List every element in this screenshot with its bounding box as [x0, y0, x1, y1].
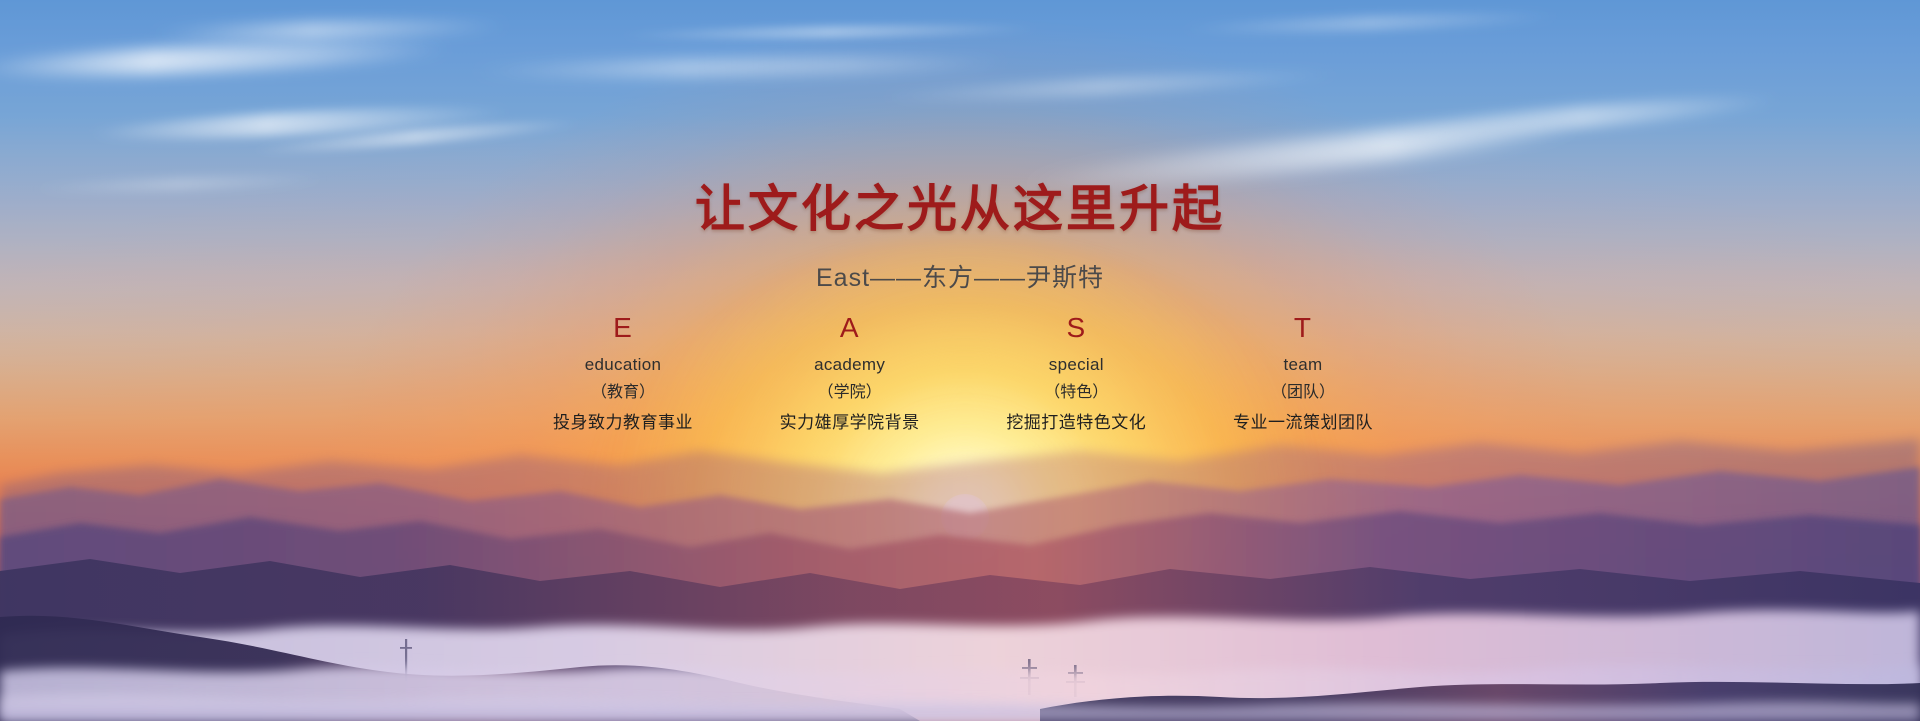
pillar-letter: S	[963, 313, 1189, 343]
pillar-special: S special （特色） 挖掘打造特色文化	[963, 313, 1189, 431]
pillar-education: E education （教育） 投身致力教育事业	[510, 313, 736, 431]
pillar-english: education	[510, 356, 736, 373]
pillar-english: team	[1190, 356, 1416, 373]
pillar-list: E education （教育） 投身致力教育事业 A academy （学院）…	[510, 313, 1416, 431]
pillar-english: academy	[737, 356, 963, 373]
pillar-chinese: （特色）	[963, 385, 1189, 401]
hero-banner: 让文化之光从这里升起 East——东方——尹斯特 E education （教育…	[0, 0, 1920, 721]
pillar-chinese: （团队）	[1190, 385, 1416, 401]
pillar-description: 实力雄厚学院背景	[737, 414, 963, 431]
banner-headline: 让文化之光从这里升起	[0, 169, 1920, 241]
pillar-academy: A academy （学院） 实力雄厚学院背景	[737, 313, 963, 431]
pillar-description: 专业一流策划团队	[1190, 414, 1416, 431]
pillar-english: special	[963, 356, 1189, 373]
landscape-svg	[0, 421, 1920, 721]
pillar-chinese: （教育）	[510, 385, 736, 401]
pillar-letter: E	[510, 313, 736, 343]
pillar-chinese: （学院）	[737, 385, 963, 401]
pillar-letter: A	[737, 313, 963, 343]
pillar-description: 挖掘打造特色文化	[963, 414, 1189, 431]
pillar-team: T team （团队） 专业一流策划团队	[1190, 313, 1416, 431]
pillar-letter: T	[1190, 313, 1416, 343]
mountain-landscape	[0, 421, 1920, 721]
pillar-description: 投身致力教育事业	[510, 414, 736, 431]
banner-subtitle: East——东方——尹斯特	[0, 258, 1920, 294]
